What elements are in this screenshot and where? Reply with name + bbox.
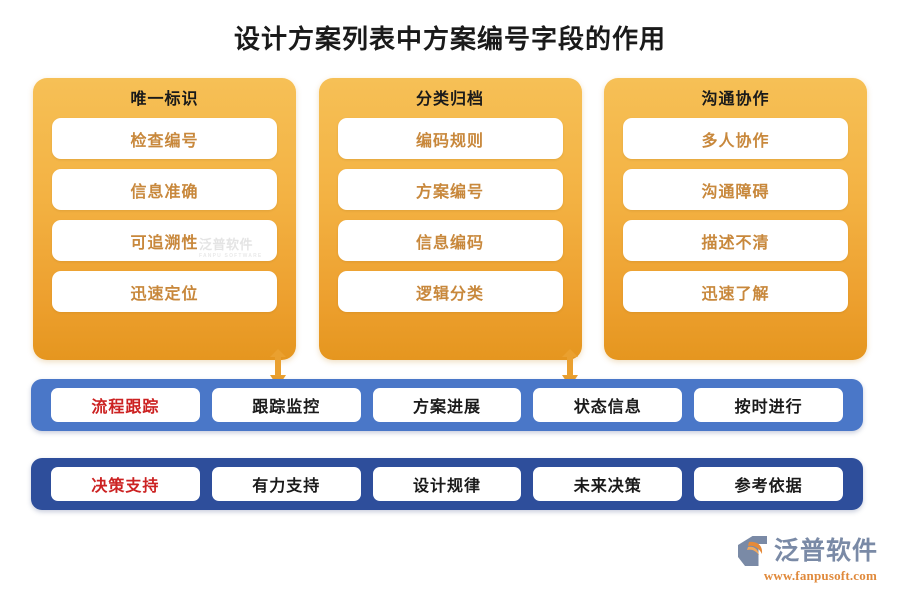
infographic-canvas: 设计方案列表中方案编号字段的作用 唯一标识 检查编号 信息准确 可追溯性 迅速定… xyxy=(0,0,900,600)
panel-card[interactable]: 可追溯性 xyxy=(52,220,277,261)
fanpu-logo-icon xyxy=(736,535,770,567)
panel-card[interactable]: 多人协作 xyxy=(623,118,848,159)
panel-card[interactable]: 迅速定位 xyxy=(52,271,277,312)
bar-pill[interactable]: 有力支持 xyxy=(212,467,361,501)
brand-logo: 泛普软件 www.fanpusoft.com xyxy=(736,535,878,584)
bar-pill[interactable]: 未来决策 xyxy=(533,467,682,501)
category-columns: 唯一标识 检查编号 信息准确 可追溯性 迅速定位 分类归档 编码规则 方案编号 … xyxy=(33,78,867,360)
decision-support-bar: 决策支持 有力支持 设计规律 未来决策 参考依据 xyxy=(31,458,863,510)
bar-pill[interactable]: 决策支持 xyxy=(51,467,200,501)
logo-name: 泛普软件 xyxy=(774,537,878,565)
process-tracking-bar: 流程跟踪 跟踪监控 方案进展 状态信息 按时进行 xyxy=(31,379,863,431)
panel-card[interactable]: 描述不清 xyxy=(623,220,848,261)
logo-url: www.fanpusoft.com xyxy=(764,568,877,584)
arrow-shaft xyxy=(275,353,281,377)
category-panel-collaboration: 沟通协作 多人协作 沟通障碍 描述不清 迅速了解 xyxy=(604,78,867,360)
logo-row: 泛普软件 xyxy=(736,535,878,567)
panel-card-list: 多人协作 沟通障碍 描述不清 迅速了解 xyxy=(623,118,848,312)
panel-card[interactable]: 编码规则 xyxy=(338,118,563,159)
panel-card-list: 检查编号 信息准确 可追溯性 迅速定位 xyxy=(52,118,277,312)
bar-pill[interactable]: 按时进行 xyxy=(694,388,843,422)
panel-card-list: 编码规则 方案编号 信息编码 逻辑分类 xyxy=(338,118,563,312)
bar-pill[interactable]: 参考依据 xyxy=(694,467,843,501)
arrow-shaft xyxy=(567,353,573,377)
category-panel-unique-id: 唯一标识 检查编号 信息准确 可追溯性 迅速定位 xyxy=(33,78,296,360)
panel-header: 沟通协作 xyxy=(701,89,769,111)
panel-card[interactable]: 检查编号 xyxy=(52,118,277,159)
panel-header: 唯一标识 xyxy=(130,89,198,111)
panel-card[interactable]: 逻辑分类 xyxy=(338,271,563,312)
panel-card[interactable]: 迅速了解 xyxy=(623,271,848,312)
bar-pill[interactable]: 状态信息 xyxy=(533,388,682,422)
bar-pill[interactable]: 流程跟踪 xyxy=(51,388,200,422)
panel-card[interactable]: 方案编号 xyxy=(338,169,563,210)
panel-card[interactable]: 沟通障碍 xyxy=(623,169,848,210)
panel-card[interactable]: 信息准确 xyxy=(52,169,277,210)
page-title: 设计方案列表中方案编号字段的作用 xyxy=(0,22,900,56)
bar-pill[interactable]: 设计规律 xyxy=(373,467,522,501)
panel-card[interactable]: 信息编码 xyxy=(338,220,563,261)
bar-pill[interactable]: 跟踪监控 xyxy=(212,388,361,422)
category-panel-classification: 分类归档 编码规则 方案编号 信息编码 逻辑分类 xyxy=(319,78,582,360)
panel-header: 分类归档 xyxy=(416,89,484,111)
bar-pill[interactable]: 方案进展 xyxy=(373,388,522,422)
